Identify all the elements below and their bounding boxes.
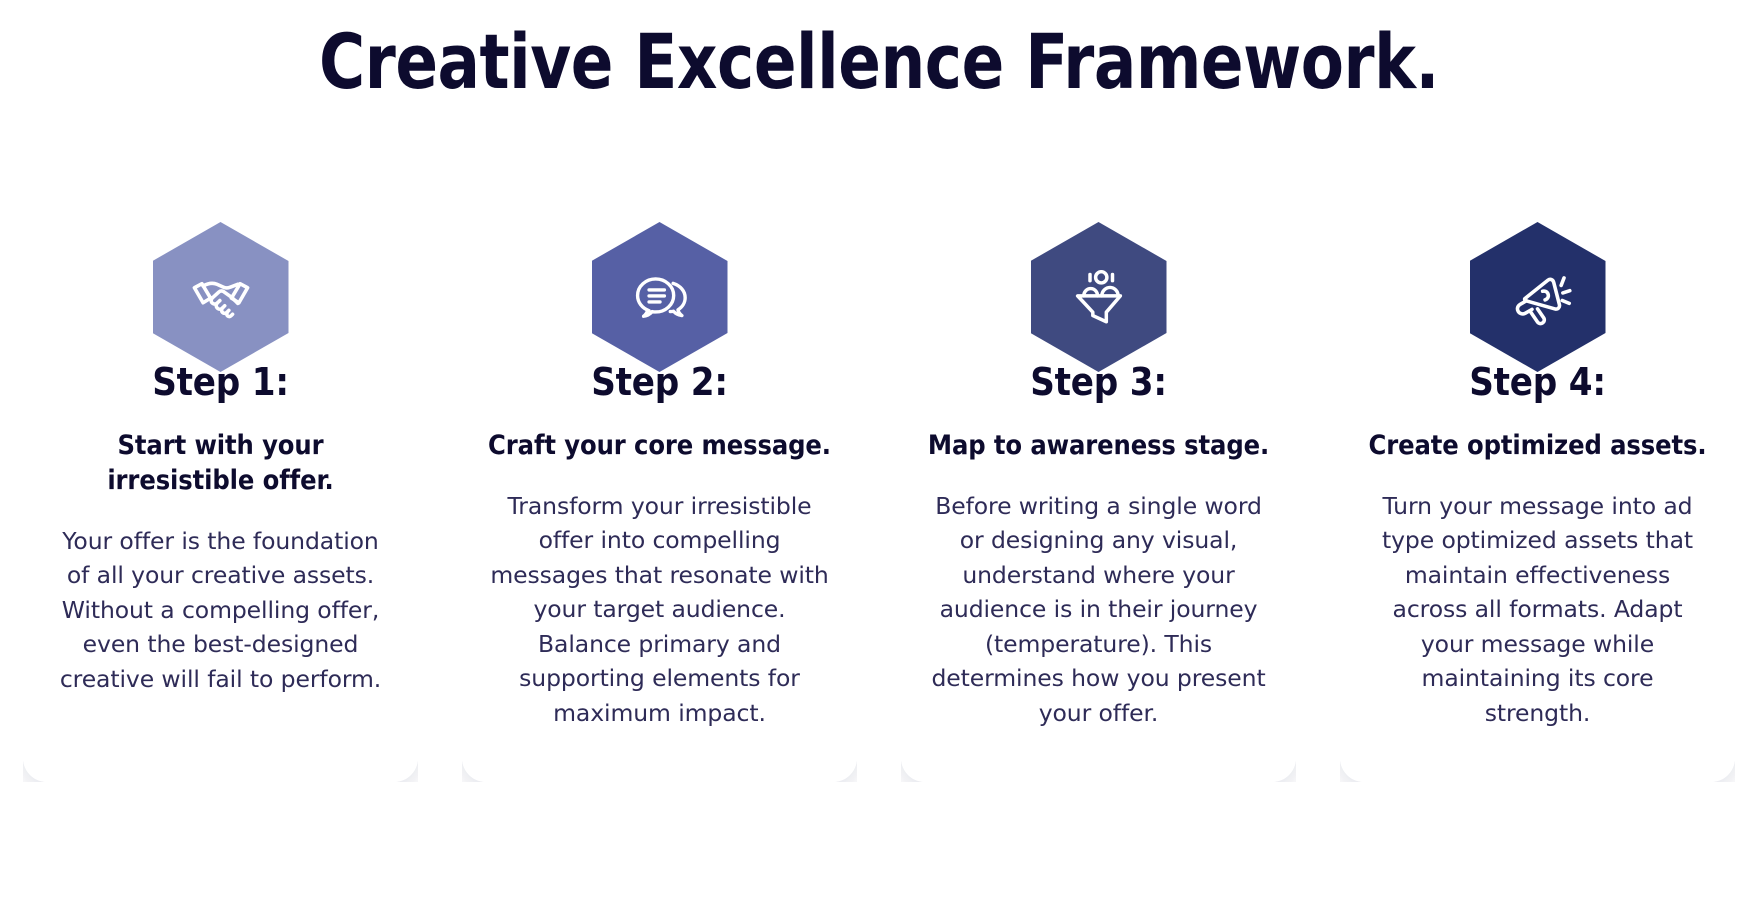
step-card-3[interactable]: Step 3: Map to awareness stage. Before w… (901, 222, 1296, 792)
infographic-page: Creative Excellence Framework. (0, 0, 1758, 912)
page-title: Creative Excellence Framework. (70, 18, 1687, 105)
step-label: Step 2: (488, 360, 831, 406)
step-label: Step 4: (1366, 360, 1709, 406)
card-text-3: Step 3: Map to awareness stage. Before w… (901, 360, 1296, 730)
card-text-4: Step 4: Create optimized assets. Turn yo… (1340, 360, 1735, 730)
step-card-2[interactable]: Step 2: Craft your core message. Transfo… (462, 222, 857, 792)
step-label: Step 3: (927, 360, 1270, 406)
card-text-1: Step 1: Start with your irresistible off… (23, 360, 418, 696)
step-card-1[interactable]: Step 1: Start with your irresistible off… (23, 222, 418, 792)
step-heading: Start with your irresistible offer. (49, 428, 392, 498)
step-body: Transform your irresistible offer into c… (488, 489, 831, 731)
steps-container: Step 1: Start with your irresistible off… (0, 222, 1758, 802)
step-heading: Map to awareness stage. (927, 428, 1270, 463)
handshake-icon (184, 260, 258, 334)
megaphone-icon (1501, 260, 1575, 334)
step-heading: Create optimized assets. (1366, 428, 1709, 463)
card-text-2: Step 2: Craft your core message. Transfo… (462, 360, 857, 730)
step-label: Step 1: (49, 360, 392, 406)
audience-funnel-icon (1063, 261, 1135, 333)
step-body: Your offer is the foundation of all your… (49, 524, 392, 697)
step-body: Turn your message into ad type optimized… (1366, 489, 1709, 731)
speech-bubbles-icon (625, 262, 695, 332)
step-body: Before writing a single word or designin… (927, 489, 1270, 731)
step-heading: Craft your core message. (488, 428, 831, 463)
step-card-4[interactable]: Step 4: Create optimized assets. Turn yo… (1340, 222, 1735, 792)
